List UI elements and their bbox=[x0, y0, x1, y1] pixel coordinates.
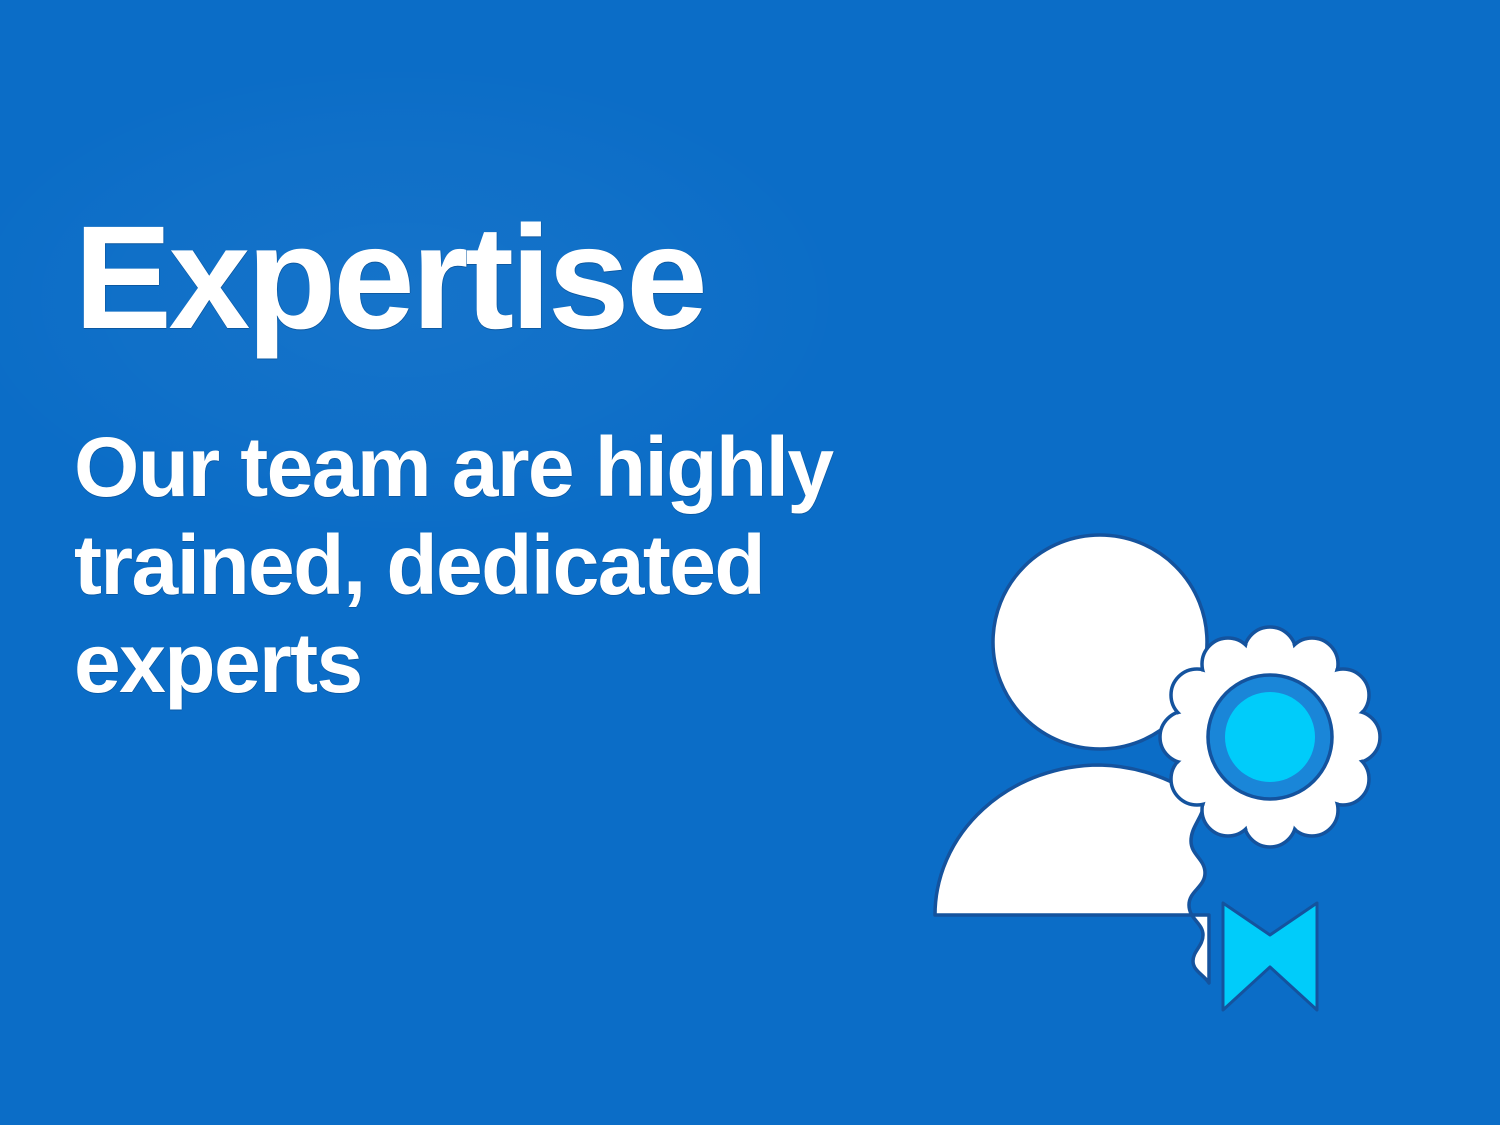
subtitle-line-1: Our team are highly bbox=[74, 420, 833, 514]
certified-expert-person-badge-icon bbox=[905, 505, 1425, 1035]
subtitle-text: Our team are highly trained, dedicated e… bbox=[74, 352, 904, 712]
subtitle-line-3: experts bbox=[74, 616, 362, 710]
expertise-slide: Expertise Our team are highly trained, d… bbox=[0, 0, 1500, 1125]
person-silhouette bbox=[935, 535, 1209, 983]
award-center-disc bbox=[1225, 692, 1315, 782]
page-title: Expertise bbox=[74, 205, 934, 352]
text-block: Expertise Our team are highly trained, d… bbox=[74, 205, 934, 712]
award-ribbon-banner bbox=[1223, 903, 1317, 1010]
person-shoulders-dome bbox=[935, 765, 1209, 983]
subtitle-line-2: trained, dedicated bbox=[74, 518, 764, 612]
